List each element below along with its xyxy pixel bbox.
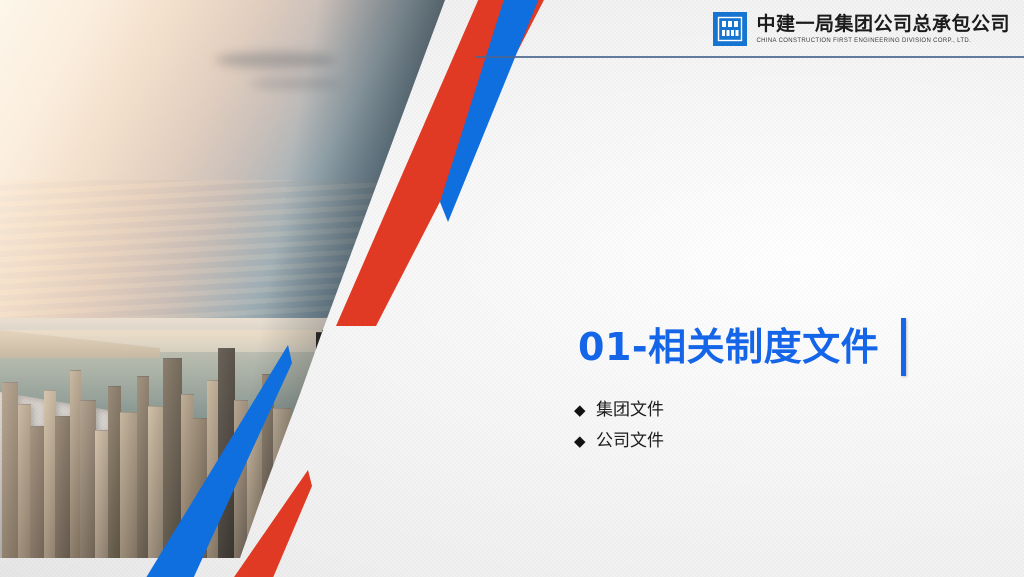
list-item-label: 公司文件 xyxy=(596,433,664,450)
company-name-block: 中建一局集团公司总承包公司 CHINA CONSTRUCTION FIRST E… xyxy=(756,14,1010,44)
page-title-row: 01-相关制度文件 xyxy=(578,318,906,376)
slide-canvas: 中建一局集团公司总承包公司 CHINA CONSTRUCTION FIRST E… xyxy=(0,0,1024,577)
company-name-en: CHINA CONSTRUCTION FIRST ENGINEERING DIV… xyxy=(756,38,1010,44)
title-accent-bar xyxy=(901,318,906,376)
list-item[interactable]: ◆ 公司文件 xyxy=(574,433,664,450)
bullet-list: ◆ 集团文件 ◆ 公司文件 xyxy=(574,402,664,464)
header-divider-line xyxy=(476,56,1024,58)
list-item[interactable]: ◆ 集团文件 xyxy=(574,402,664,419)
list-item-label: 集团文件 xyxy=(596,402,664,419)
company-header: 中建一局集团公司总承包公司 CHINA CONSTRUCTION FIRST E… xyxy=(713,12,1010,46)
page-title: 01-相关制度文件 xyxy=(578,328,879,366)
diamond-bullet-icon: ◆ xyxy=(574,403,596,418)
diamond-bullet-icon: ◆ xyxy=(574,434,596,449)
cscec-logo-icon xyxy=(713,12,747,46)
company-name-cn: 中建一局集团公司总承包公司 xyxy=(756,14,1010,36)
